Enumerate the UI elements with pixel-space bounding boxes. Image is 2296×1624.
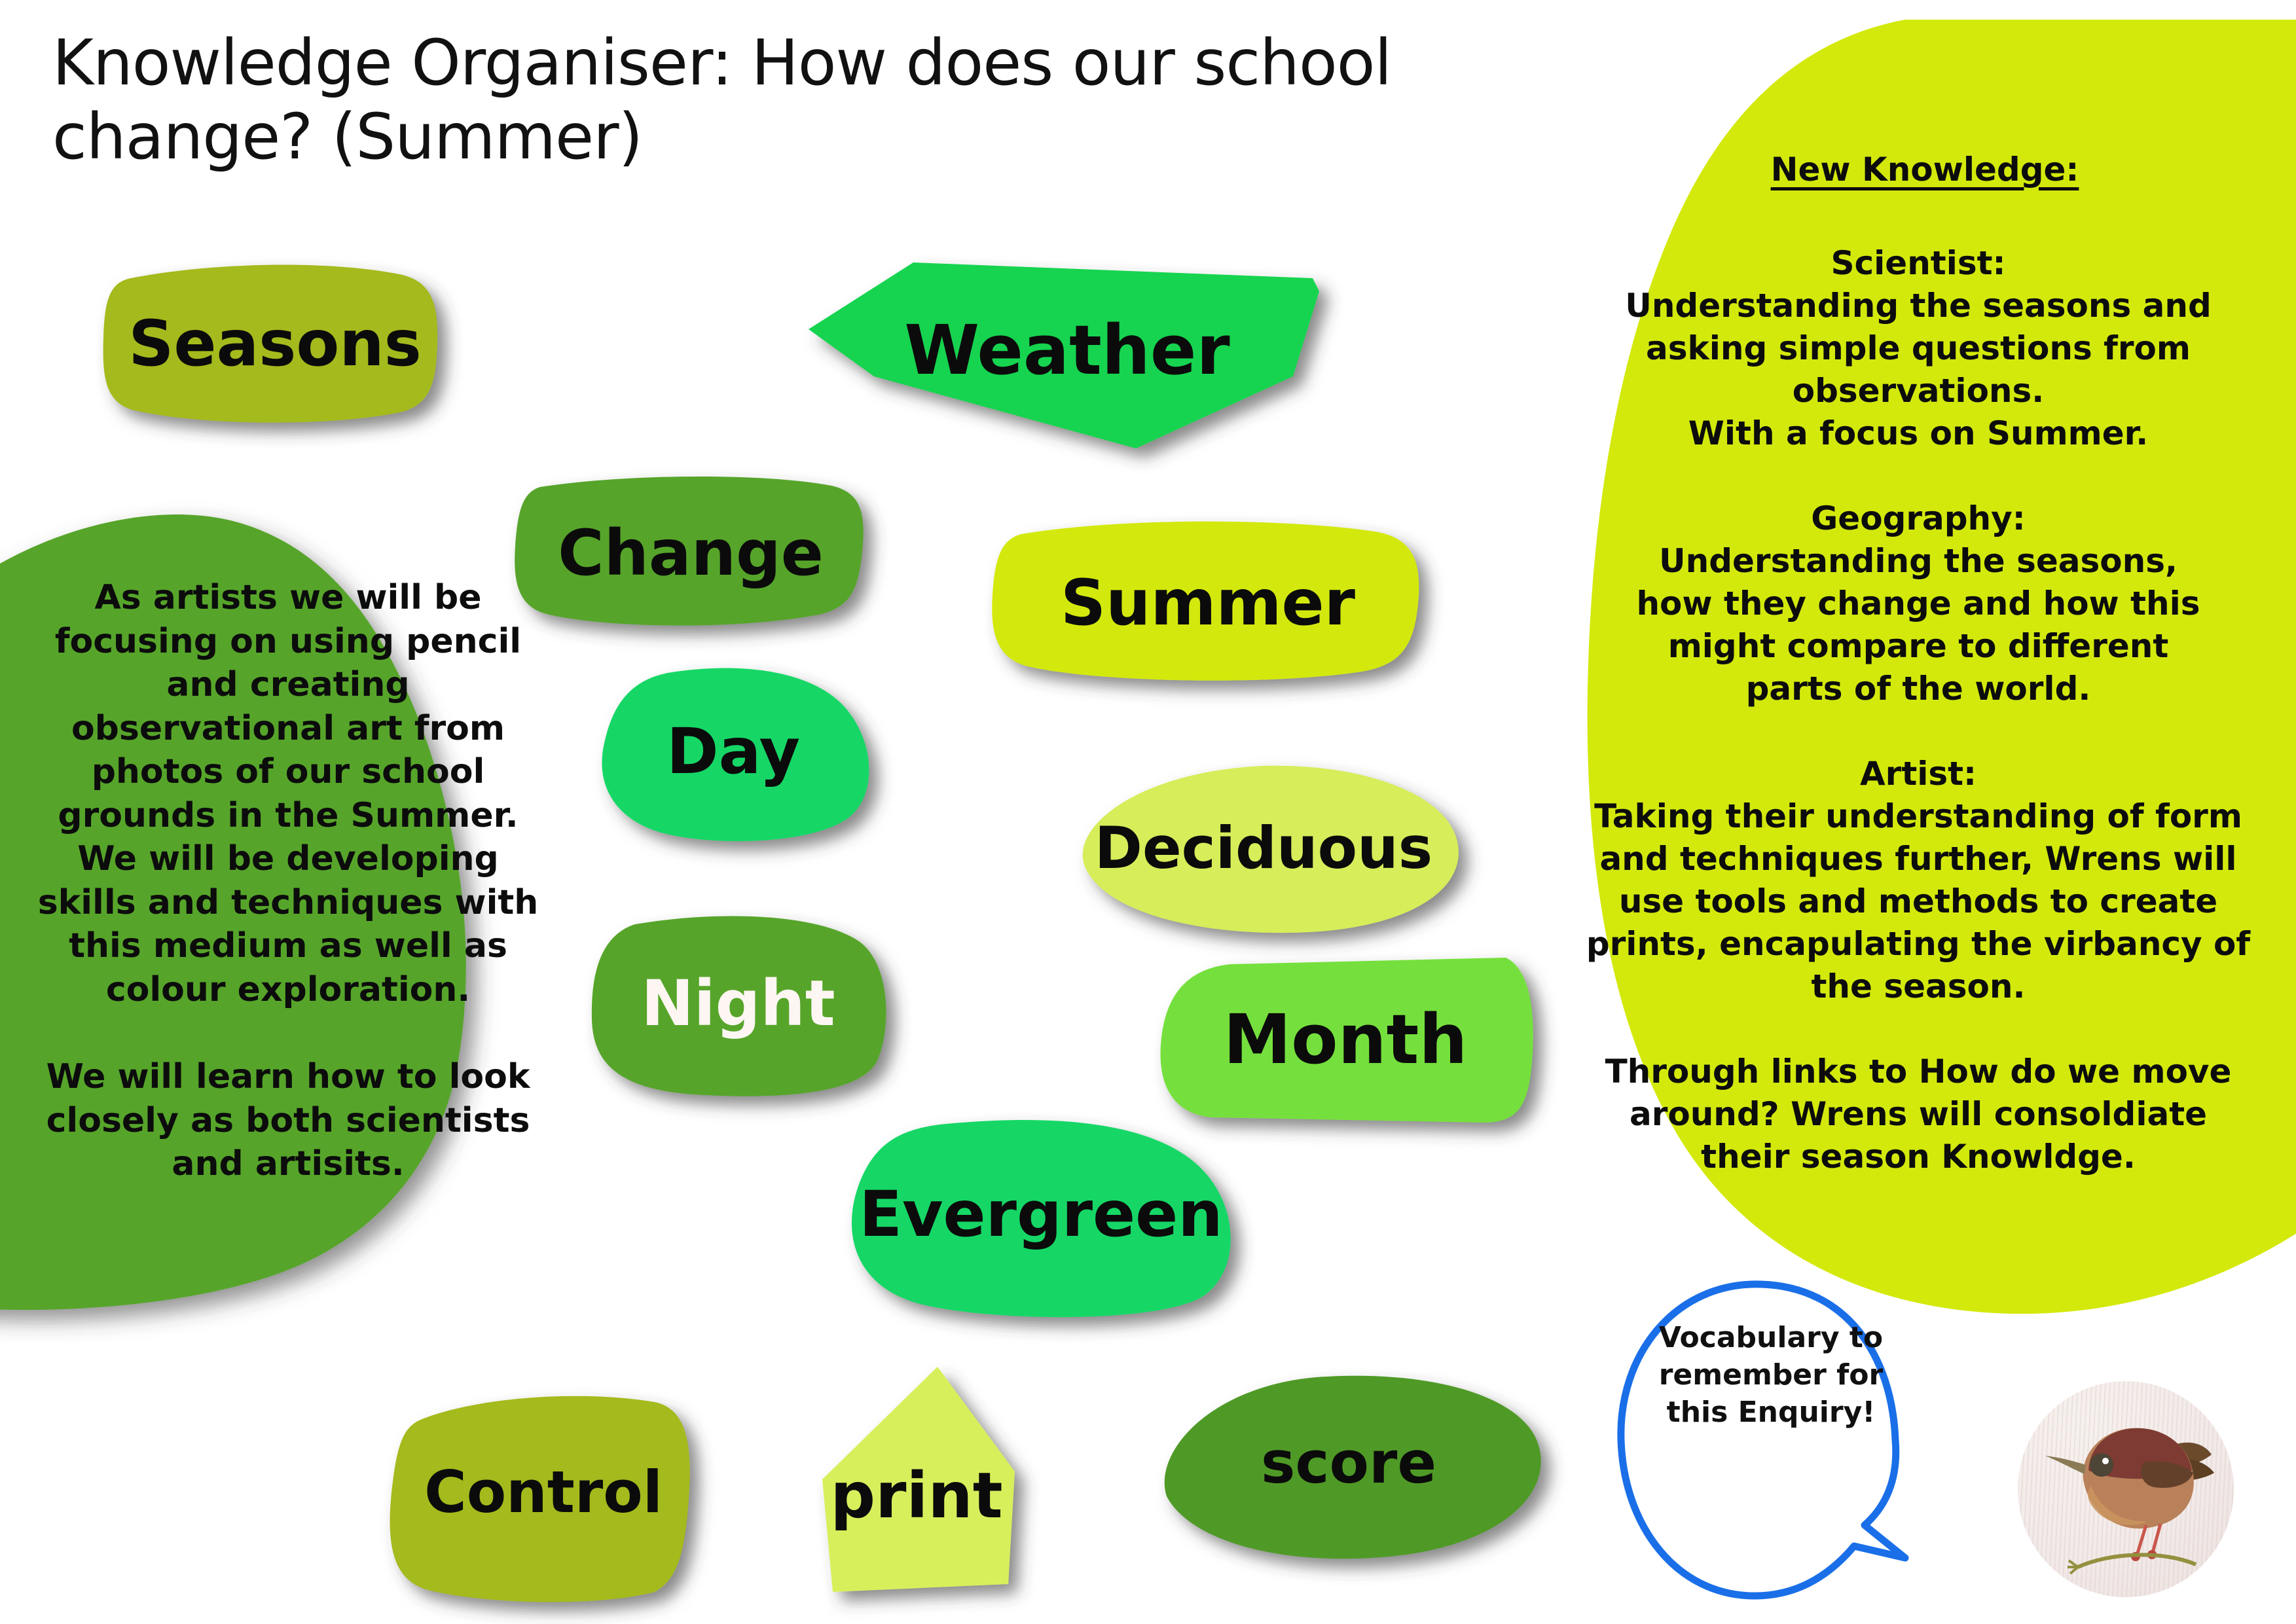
- word-bubble-score[interactable]: score: [1152, 1368, 1545, 1558]
- word-label-month: Month: [1224, 1005, 1468, 1074]
- new-knowledge-body: Scientist: Understanding the seasons and…: [1584, 242, 2252, 1178]
- word-label-evergreen: Evergreen: [859, 1183, 1222, 1246]
- poster-canvas: Knowledge Organiser: How does our school…: [0, 0, 2296, 1624]
- word-bubble-evergreen[interactable]: Evergreen: [841, 1113, 1241, 1316]
- word-label-night: Night: [641, 972, 835, 1035]
- word-label-control: Control: [424, 1464, 663, 1521]
- word-bubble-seasons[interactable]: Seasons: [92, 259, 458, 429]
- word-bubble-control[interactable]: Control: [380, 1388, 707, 1597]
- word-label-seasons: Seasons: [128, 312, 422, 375]
- word-label-summer: Summer: [1061, 571, 1355, 634]
- word-bubble-weather[interactable]: Weather: [795, 252, 1339, 448]
- wren-watercolour-photo: [2018, 1381, 2234, 1597]
- word-bubble-night[interactable]: Night: [583, 910, 894, 1096]
- word-label-change: Change: [558, 522, 824, 585]
- new-knowledge-heading: New Knowledge:: [1624, 151, 2226, 189]
- word-bubble-day[interactable]: Day: [589, 661, 877, 841]
- word-bubble-month[interactable]: Month: [1152, 952, 1539, 1126]
- artist-intent-text: As artists we will be focusing on using …: [33, 576, 543, 1186]
- word-label-deciduous: Deciduous: [1095, 820, 1432, 877]
- wren-illustration: [2018, 1381, 2234, 1597]
- vocabulary-callout-text: Vocabulary to remember for this Enquiry!: [1630, 1319, 1912, 1432]
- word-label-weather: Weather: [904, 316, 1230, 384]
- page-title: Knowledge Organiser: How does our school…: [52, 26, 1460, 175]
- word-bubble-print[interactable]: print: [818, 1404, 1015, 1587]
- word-label-score: score: [1261, 1434, 1436, 1492]
- word-bubble-deciduous[interactable]: Deciduous: [1067, 759, 1460, 937]
- word-bubble-change[interactable]: Change: [507, 473, 874, 633]
- word-bubble-summer[interactable]: Summer: [982, 517, 1434, 689]
- word-label-print: print: [830, 1464, 1002, 1527]
- word-label-day: Day: [666, 720, 800, 783]
